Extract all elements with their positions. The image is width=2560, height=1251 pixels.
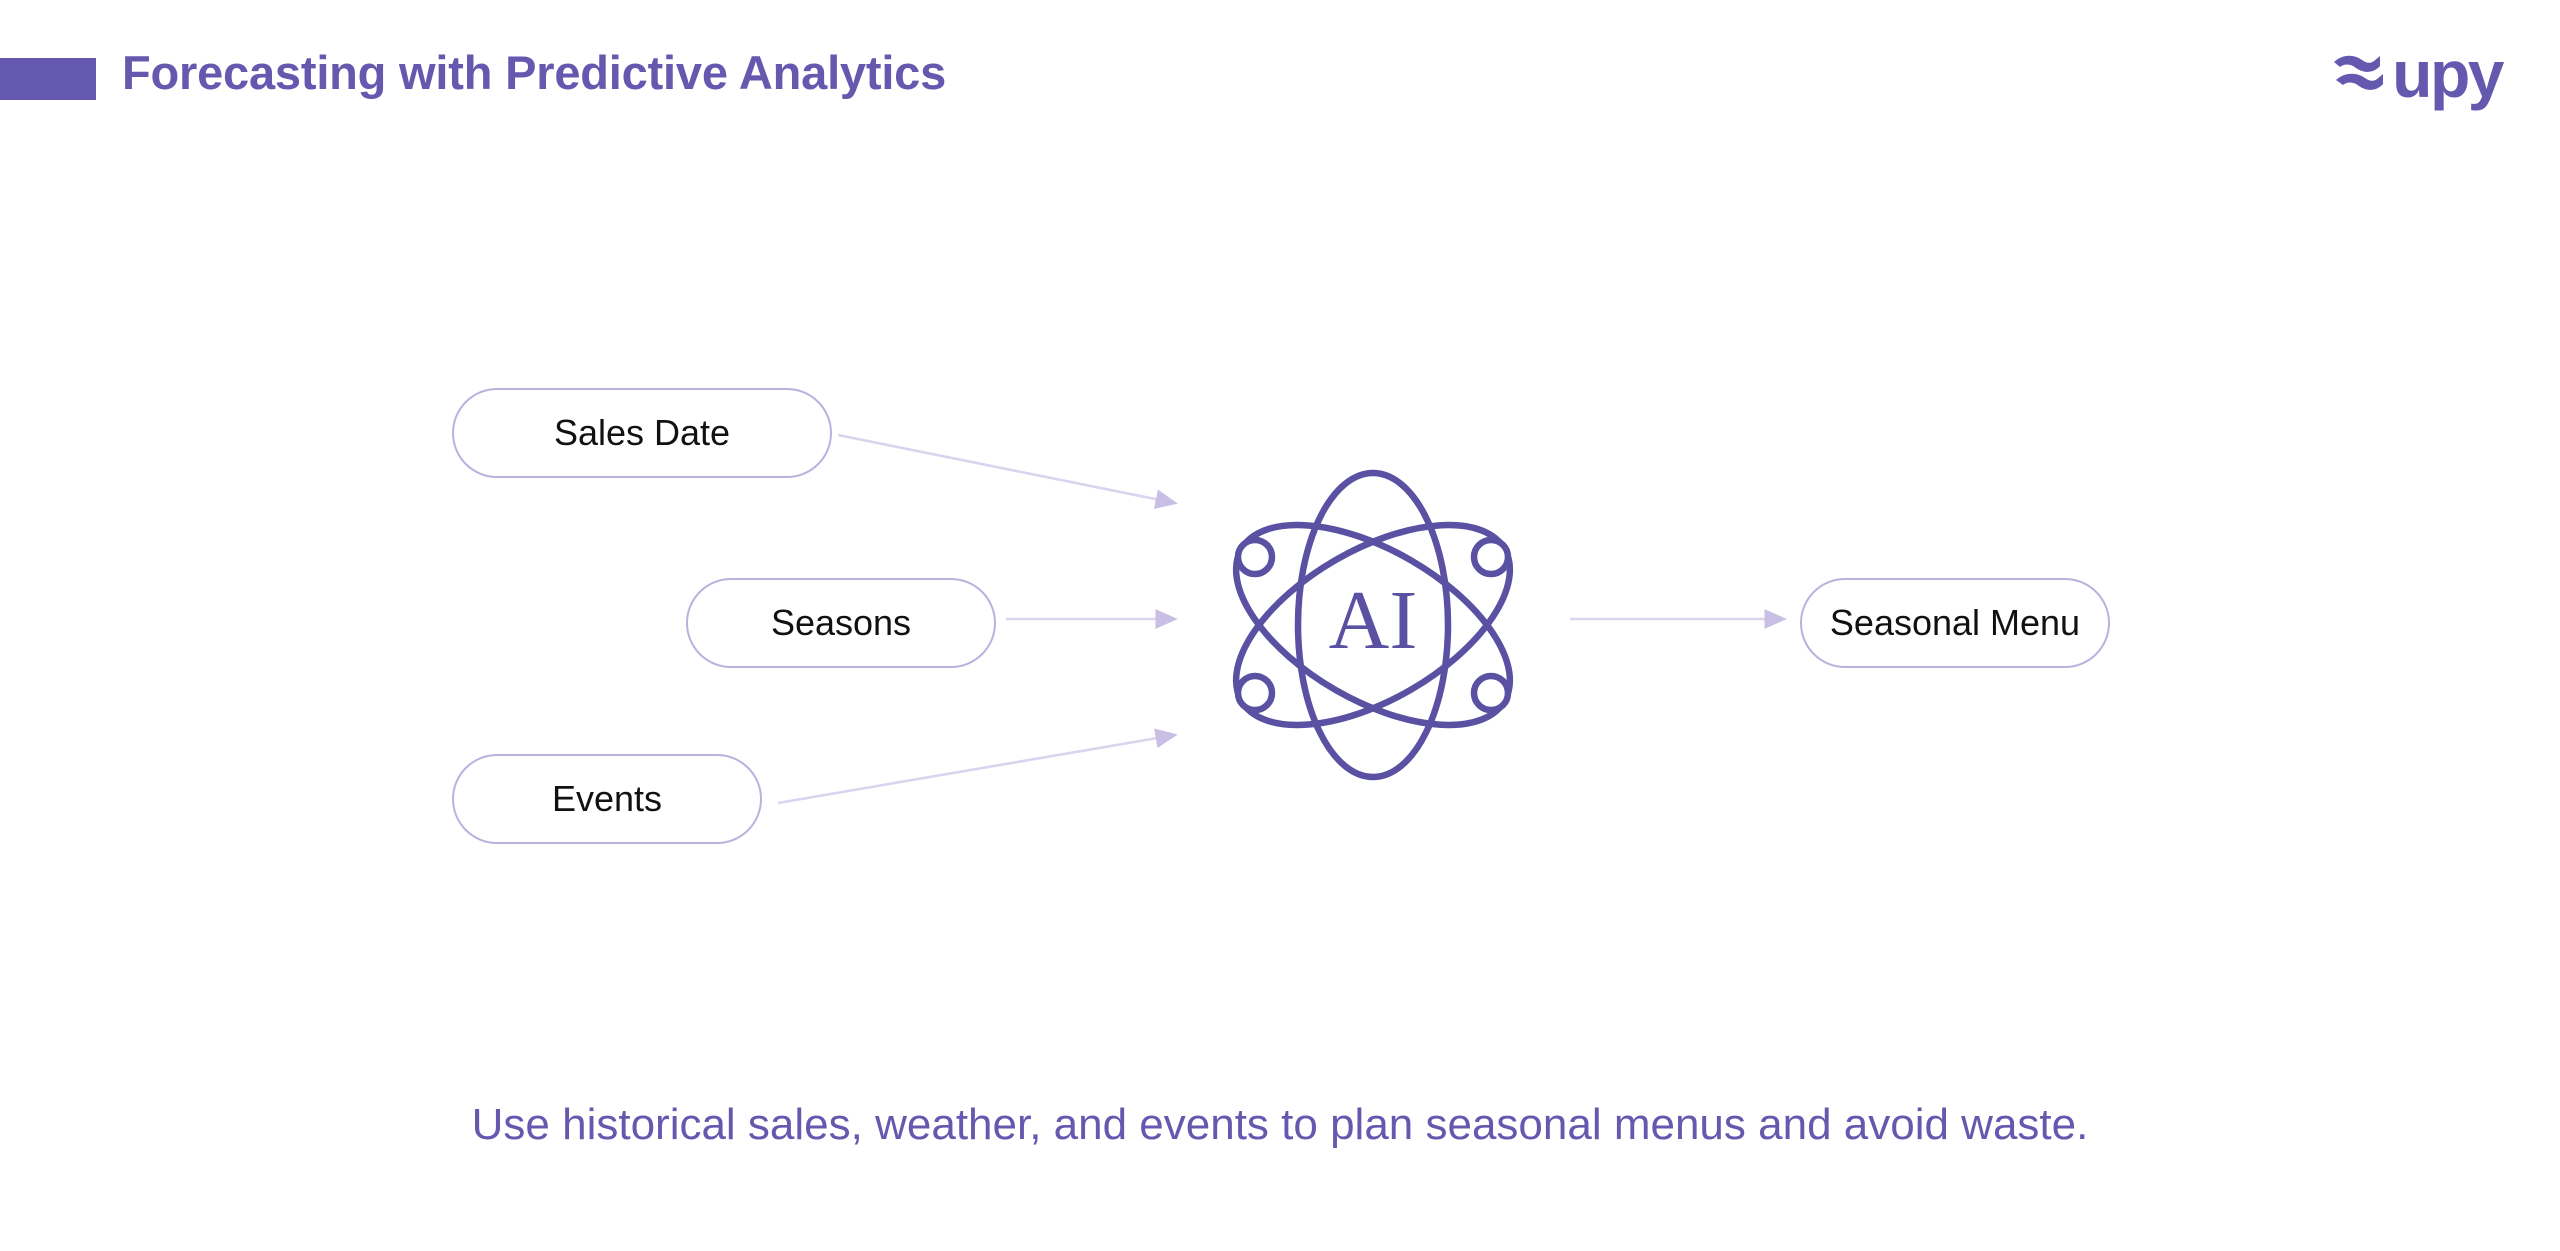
ai-label: AI bbox=[1329, 574, 1418, 667]
title-accent-bar bbox=[0, 58, 96, 100]
logo-wordmark: upy bbox=[2392, 44, 2502, 104]
atom-icon: AI bbox=[1218, 466, 1528, 784]
slide-caption: Use historical sales, weather, and event… bbox=[0, 1100, 2560, 1150]
output-pill-label: Seasonal Menu bbox=[1830, 602, 2080, 644]
input-pill-label: Events bbox=[552, 778, 662, 820]
page-title: Forecasting with Predictive Analytics bbox=[122, 45, 946, 100]
input-pill-label: Sales Date bbox=[554, 412, 730, 454]
input-pill-sales-date[interactable]: Sales Date bbox=[452, 388, 832, 478]
input-pill-label: Seasons bbox=[771, 602, 911, 644]
ai-processor-node[interactable]: AI bbox=[1218, 466, 1528, 784]
input-pill-events[interactable]: Events bbox=[452, 754, 762, 844]
output-pill-seasonal-menu[interactable]: Seasonal Menu bbox=[1800, 578, 2110, 668]
slide-root: Forecasting with Predictive Analytics up… bbox=[0, 0, 2560, 1251]
brand-logo: upy bbox=[2328, 38, 2502, 110]
input-pill-seasons[interactable]: Seasons bbox=[686, 578, 996, 668]
supy-wave-s-icon bbox=[2328, 44, 2390, 104]
